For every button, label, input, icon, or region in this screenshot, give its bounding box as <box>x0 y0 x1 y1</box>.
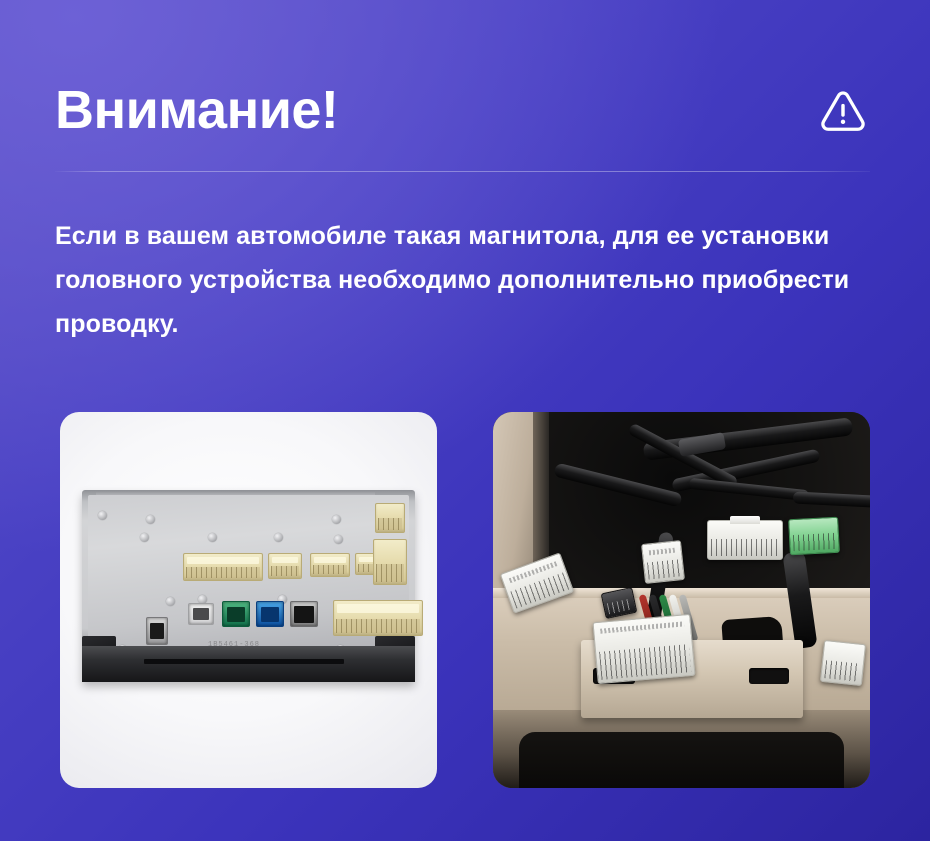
antenna-socket <box>146 617 168 645</box>
gray-socket <box>188 603 214 625</box>
connector-pins <box>711 539 779 556</box>
harness-connector-white <box>820 640 866 686</box>
chassis-vent-slot <box>144 659 344 664</box>
warning-triangle-icon <box>820 88 866 134</box>
page-title: Внимание! <box>55 82 338 139</box>
wire-connector <box>373 539 407 585</box>
harness-connector-white <box>641 540 685 584</box>
connector-label <box>649 548 675 556</box>
wire-connector <box>310 553 350 577</box>
connector-pins <box>336 619 420 633</box>
connector-pins <box>271 566 299 576</box>
connector-lip <box>314 557 346 563</box>
connector-pins <box>599 644 691 679</box>
connector-pins <box>793 533 836 551</box>
connector-lip <box>187 557 259 564</box>
chassis-rear-face: 1B5461-368 <box>88 495 409 646</box>
screw <box>140 533 149 542</box>
connector-tab <box>730 516 760 524</box>
wire-connector <box>183 553 263 581</box>
screw <box>208 533 217 542</box>
connector-pins <box>378 518 402 530</box>
blue-socket <box>256 601 284 627</box>
green-socket <box>222 601 250 627</box>
warning-paragraph: Если в вашем автомобиле такая магнитола,… <box>55 214 881 346</box>
black-socket <box>290 601 318 627</box>
head-unit-rear-photo: 1B5461-368 <box>60 412 437 788</box>
connector-pins <box>607 599 633 615</box>
connector-label <box>600 621 684 633</box>
connector-lip <box>272 557 298 563</box>
screw <box>332 515 341 524</box>
harness-connector-white <box>707 520 783 560</box>
connector-pins <box>186 567 260 578</box>
header: Внимание! <box>55 50 872 171</box>
screw <box>166 597 175 606</box>
harness-connector-green <box>788 517 840 556</box>
head-unit-chassis: 1B5461-368 <box>82 490 415 682</box>
tray-slot <box>749 668 789 684</box>
wire-connector <box>375 503 405 533</box>
wire-connector <box>268 553 302 579</box>
lower-dashboard-void <box>519 732 844 788</box>
connector-lip <box>337 604 419 613</box>
screw <box>274 533 283 542</box>
chassis-bottom <box>82 646 415 682</box>
connector-pins <box>824 660 860 682</box>
connector-pins <box>647 559 681 580</box>
screw <box>334 535 343 544</box>
connector-pins <box>376 564 404 582</box>
main-power-connector <box>333 600 423 636</box>
wiring-harness-photo <box>493 412 870 788</box>
harness-connector-white-large <box>592 614 695 684</box>
attention-slide: Внимание! Если в вашем автомобиле такая … <box>0 0 930 841</box>
header-divider <box>55 171 870 172</box>
screw <box>98 511 107 520</box>
connector-pins <box>313 565 347 574</box>
screw <box>146 515 155 524</box>
photo-card-row: 1B5461-368 <box>60 412 870 788</box>
